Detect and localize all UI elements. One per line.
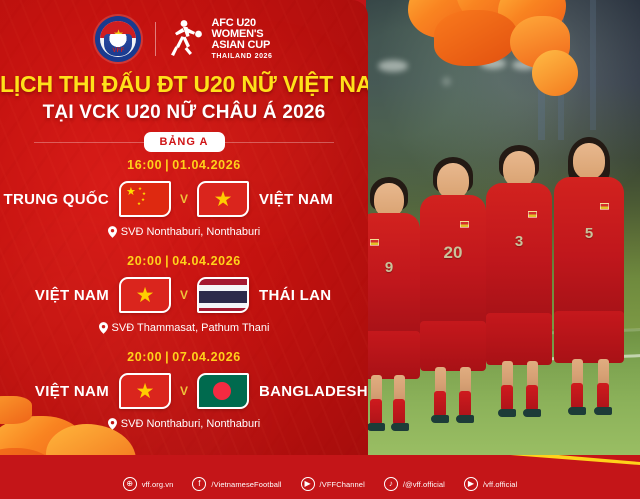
social-label: /@vff.official	[403, 480, 445, 489]
away-team-name: VIỆT NAM	[249, 191, 367, 208]
content-panel: ★ VFF	[0, 0, 368, 465]
match-venue: SVĐ Nonthaburi, Nonthaburi	[0, 226, 368, 238]
venue-text: SVĐ Thammasat, Pathum Thani	[112, 322, 270, 334]
social-label: vff.org.vn	[142, 480, 174, 489]
player-figure: 5	[554, 113, 624, 431]
home-team-name: VIỆT NAM	[1, 287, 119, 304]
group-badge: BẢNG A	[144, 132, 225, 152]
match-row[interactable]: 16:00|01.04.2026 TRUNG QUỐC ★ ★ ★ ★ ★ V …	[0, 158, 368, 254]
location-pin-icon	[108, 226, 117, 238]
stadium-light	[378, 60, 408, 72]
title-block: LỊCH THI ĐẤU ĐT U20 NỮ VIỆT NAM TẠI VCK …	[0, 72, 368, 124]
away-team-flag	[197, 277, 249, 313]
match-datetime: 16:00|01.04.2026	[0, 158, 368, 172]
match-sep: |	[162, 350, 172, 364]
home-team-flag: ★	[119, 373, 171, 409]
afc-line4: THAILAND 2026	[211, 53, 272, 60]
away-team-flag	[197, 373, 249, 409]
match-venue: SVĐ Thammasat, Pathum Thani	[0, 322, 368, 334]
page-title: LỊCH THI ĐẤU ĐT U20 NỮ VIỆT NAM	[0, 72, 368, 97]
social-link-play[interactable]: ▶ /vff.official	[464, 477, 517, 491]
match-time: 20:00	[127, 350, 162, 364]
social-link-youtube[interactable]: ▶ /VFFChannel	[301, 477, 365, 491]
social-link-website[interactable]: ⊕ vff.org.vn	[123, 477, 174, 491]
divider-left	[34, 142, 144, 143]
match-date: 07.04.2026	[172, 350, 241, 364]
social-label: /VFFChannel	[320, 480, 365, 489]
versus-label: V	[171, 192, 197, 206]
poster-root: 9 20 3	[0, 0, 640, 499]
team-photo: 9 20 3	[352, 0, 640, 465]
match-datetime: 20:00|07.04.2026	[0, 350, 368, 364]
social-label: /VietnameseFootball	[211, 480, 281, 489]
facebook-icon: f	[192, 477, 206, 491]
player-figure: 3	[486, 115, 552, 431]
match-row[interactable]: 20:00|04.04.2026 VIỆT NAM ★ V THÁI LAN	[0, 254, 368, 350]
footer-swoosh	[0, 455, 640, 469]
tiktok-icon: ♪	[384, 477, 398, 491]
vff-logo-label: VFF	[112, 48, 124, 54]
social-link-facebook[interactable]: f /VietnameseFootball	[192, 477, 281, 491]
match-time: 20:00	[127, 254, 162, 268]
group-row: BẢNG A	[0, 131, 368, 153]
versus-label: V	[171, 384, 197, 398]
stadium-light	[480, 58, 506, 69]
home-team-flag: ★ ★ ★ ★ ★	[119, 181, 171, 217]
logo-divider	[155, 22, 156, 56]
venue-text: SVĐ Nonthaburi, Nonthaburi	[121, 226, 260, 238]
player-figure: 20	[420, 121, 486, 431]
match-row[interactable]: 20:00|07.04.2026 VIỆT NAM ★ V BANGLADESH…	[0, 350, 368, 446]
away-team-name: BANGLADESH	[249, 383, 367, 400]
home-team-name: VIỆT NAM	[1, 383, 119, 400]
match-sep: |	[162, 158, 172, 172]
afc-line3: ASIAN CUP	[211, 40, 272, 51]
versus-label: V	[171, 288, 197, 302]
location-pin-icon	[108, 418, 117, 430]
away-team-name: THÁI LAN	[249, 287, 367, 304]
match-date: 01.04.2026	[172, 158, 241, 172]
footer: ⊕ vff.org.vn f /VietnameseFootball ▶ /VF…	[0, 455, 640, 499]
away-team-flag: ★	[197, 181, 249, 217]
stadium-post	[590, 0, 596, 130]
page-subtitle: TẠI VCK U20 NỮ CHÂU Á 2026	[0, 103, 368, 124]
social-link-tiktok[interactable]: ♪ /@vff.official	[384, 477, 445, 491]
home-team-flag: ★	[119, 277, 171, 313]
play-icon: ▶	[464, 477, 478, 491]
vff-logo: ★ VFF	[95, 16, 141, 62]
social-label: /vff.official	[483, 480, 517, 489]
youtube-icon: ▶	[301, 477, 315, 491]
stadium-light	[512, 60, 536, 70]
match-venue: SVĐ Nonthaburi, Nonthaburi	[0, 418, 368, 430]
match-list: 16:00|01.04.2026 TRUNG QUỐC ★ ★ ★ ★ ★ V …	[0, 158, 368, 446]
match-date: 04.04.2026	[172, 254, 241, 268]
website-icon: ⊕	[123, 477, 137, 491]
match-time: 16:00	[127, 158, 162, 172]
social-links: ⊕ vff.org.vn f /VietnameseFootball ▶ /VF…	[0, 477, 640, 491]
afc-logo: AFC U20 WOMEN'S ASIAN CUP THAILAND 2026	[170, 18, 272, 60]
venue-text: SVĐ Nonthaburi, Nonthaburi	[121, 418, 260, 430]
logo-row: ★ VFF	[0, 14, 368, 64]
match-sep: |	[162, 254, 172, 268]
player-silhouette-icon	[170, 18, 204, 60]
divider-right	[225, 142, 335, 143]
location-pin-icon	[99, 322, 108, 334]
stadium-light	[442, 77, 451, 86]
match-datetime: 20:00|04.04.2026	[0, 254, 368, 268]
home-team-name: TRUNG QUỐC	[1, 191, 119, 208]
